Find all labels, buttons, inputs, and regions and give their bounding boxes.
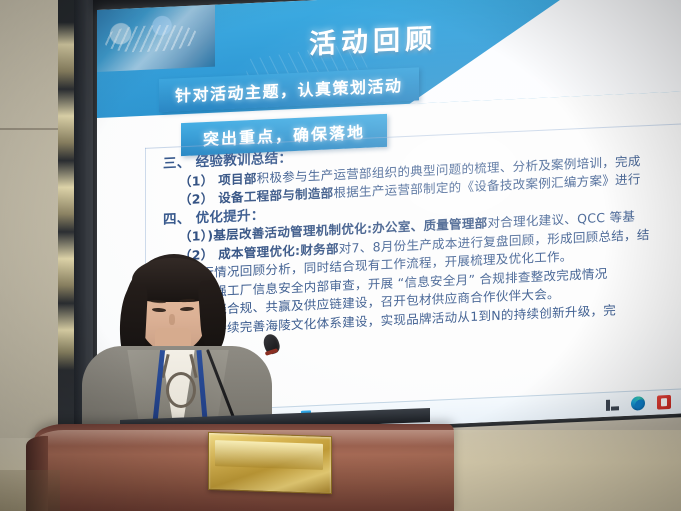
slide-text-emphasis: （1） 项目部 [179, 170, 257, 189]
nose [169, 314, 175, 325]
left-wall-panel [0, 0, 60, 440]
plaque-inner-panel [215, 440, 323, 470]
edge-browser-icon[interactable] [631, 396, 645, 411]
podium-floor-shadow [0, 470, 60, 511]
slide-title: 活动回顾 [309, 17, 437, 62]
task-view-icon[interactable] [606, 399, 619, 411]
taskbar-icon-group [606, 395, 671, 412]
slide-header-photo [97, 5, 215, 72]
neck-tie-loop [166, 372, 196, 408]
wall-panel-seam [0, 128, 60, 130]
podium-gold-plaque [208, 432, 332, 494]
conference-room-scene: 活动回顾 针对活动主题，认真策划活动 突出重点，确保落地 三、 经验教训总结：（… [0, 0, 681, 511]
app-red-icon[interactable] [657, 395, 671, 410]
